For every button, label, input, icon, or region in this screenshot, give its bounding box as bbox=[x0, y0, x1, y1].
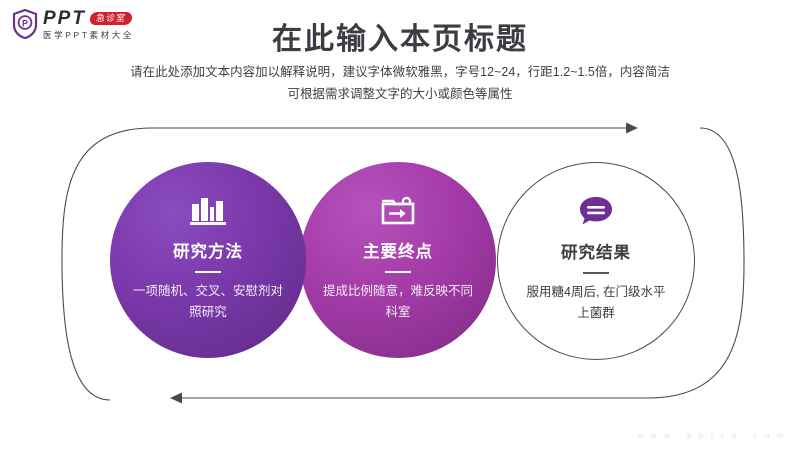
bar-chart-icon bbox=[188, 192, 228, 228]
circle-title: 研究结果 bbox=[561, 239, 631, 263]
process-circle-primary-endpoint[interactable]: 主要终点 提成比例随意，难反映不同科室 bbox=[300, 162, 496, 358]
page-subtitle-line1: 请在此处添加文本内容加以解释说明，建议字体微软雅黑，字号12~24，行距1.2~… bbox=[80, 62, 720, 84]
arrow-head-right bbox=[626, 123, 638, 134]
watermark: w w w . p p t c n . c o m bbox=[638, 431, 786, 440]
page-title: 在此输入本页标题 bbox=[0, 14, 800, 58]
page-subtitle-line2: 可根据需求调整文字的大小或颜色等属性 bbox=[80, 84, 720, 106]
folder-arrow-icon bbox=[379, 192, 417, 228]
circle-title: 主要终点 bbox=[363, 238, 433, 262]
arrow-head-left bbox=[170, 393, 182, 404]
circle-body-text: 一项随机、交叉、安慰剂对照研究 bbox=[133, 281, 283, 322]
circle-body-text: 服用糖4周后, 在门级水平上菌群 bbox=[521, 282, 671, 323]
title-divider bbox=[195, 271, 221, 273]
process-circle-research-result[interactable]: 研究结果 服用糖4周后, 在门级水平上菌群 bbox=[497, 162, 695, 360]
circle-body-text: 提成比例随意，难反映不同科室 bbox=[323, 281, 473, 322]
process-circle-research-method[interactable]: 研究方法 一项随机、交叉、安慰剂对照研究 bbox=[110, 162, 306, 358]
title-divider bbox=[385, 271, 411, 273]
title-divider bbox=[583, 272, 609, 274]
page-subtitle: 请在此处添加文本内容加以解释说明，建议字体微软雅黑，字号12~24，行距1.2~… bbox=[80, 62, 720, 106]
circle-title: 研究方法 bbox=[173, 238, 243, 262]
slide-canvas: P PPT 急诊室 医学PPT素材大全 在此输入本页标题 请在此处添加文本内容加… bbox=[0, 0, 800, 450]
speech-bubble-icon bbox=[577, 193, 615, 229]
